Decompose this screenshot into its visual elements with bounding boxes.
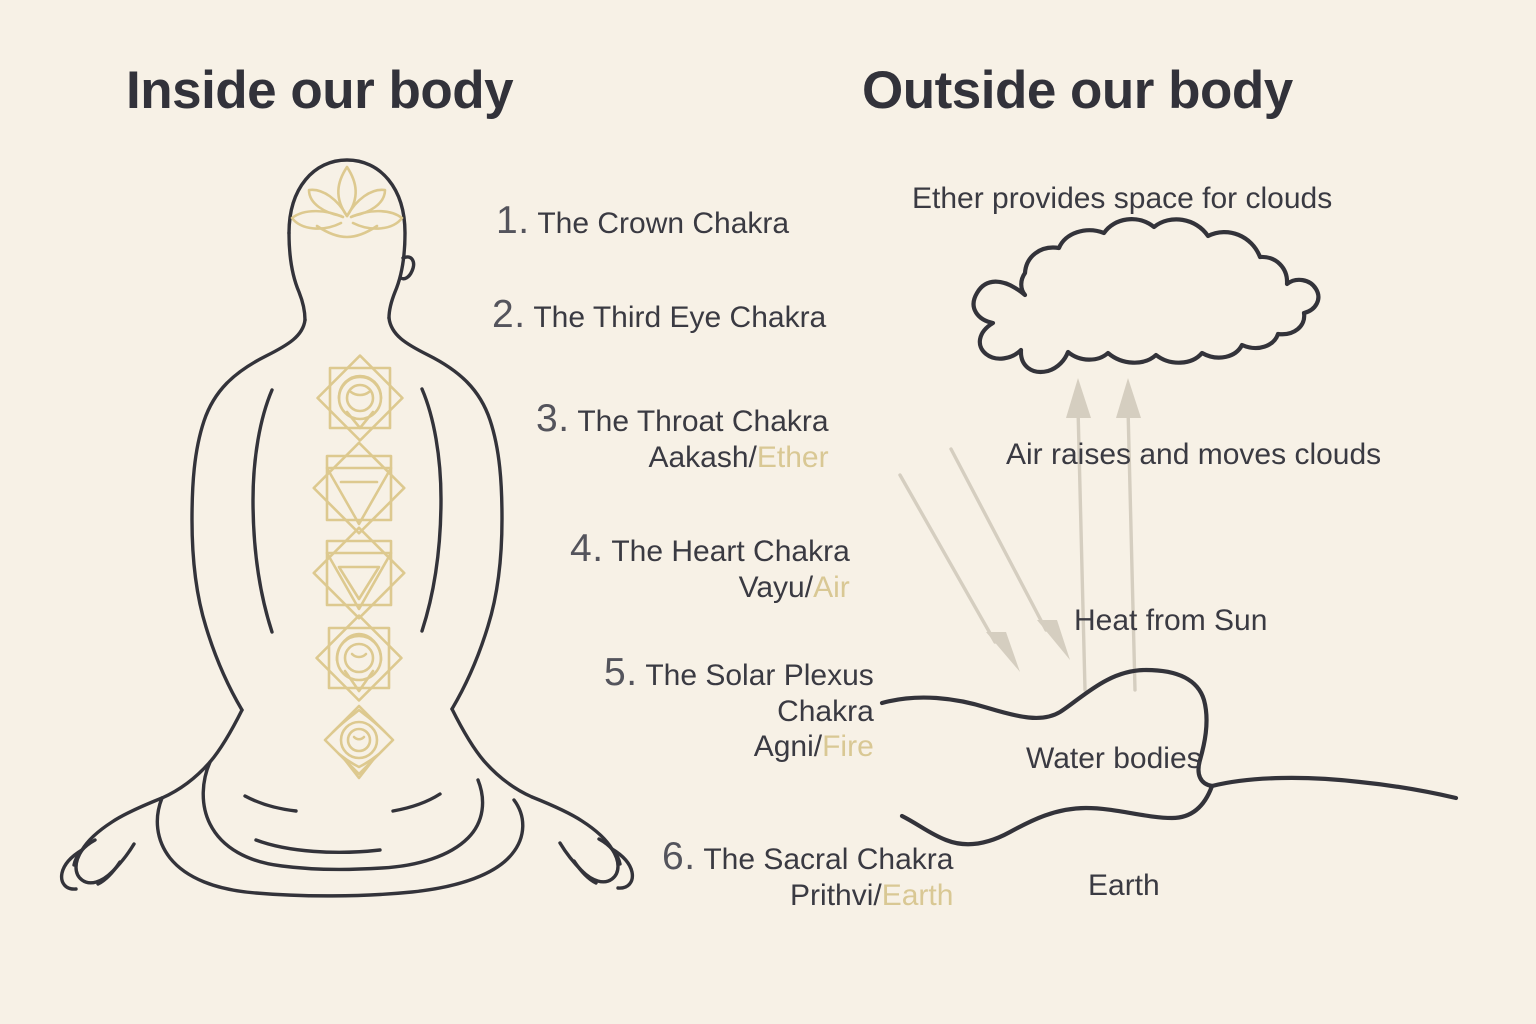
chakra-name-5-cont: Chakra: [604, 695, 874, 730]
chakra-element-3: Ether: [757, 441, 829, 474]
label-heat-from-sun: Heat from Sun: [1074, 604, 1267, 638]
label-ether-provides-space: Ether provides space for clouds: [912, 182, 1332, 216]
chakra-list-item-1: 1. The Crown Chakra: [496, 198, 789, 243]
cloud-icon: [974, 219, 1319, 372]
chakra-list-item-2: 2. The Third Eye Chakra: [492, 292, 826, 337]
chakra-name-4: The Heart Chakra: [611, 535, 849, 568]
down-arrow-icon: [900, 449, 1070, 672]
sacral-chakra-icon: [325, 706, 393, 778]
chakra-sanskrit-3: Aakash/: [648, 441, 756, 474]
chakra-sanskrit-4: Vayu/: [739, 571, 814, 604]
chakra-number-5: 5.: [604, 651, 638, 694]
chakra-number-1: 1.: [496, 199, 530, 242]
chakra-number-4: 4.: [570, 527, 604, 570]
chakra-name-5: The Solar Plexus: [645, 659, 873, 692]
page-title-inside-body: Inside our body: [126, 60, 513, 121]
chakra-name-3: The Throat Chakra: [577, 405, 828, 438]
body-outline: [62, 160, 633, 896]
heart-chakra-icon: [314, 528, 405, 619]
page-title-outside-body: Outside our body: [862, 60, 1293, 121]
label-water-bodies: Water bodies: [1026, 742, 1202, 776]
chakra-element-4: Air: [813, 571, 850, 604]
chakra-list-item-4: 4. The Heart Chakra Vayu/Air: [570, 526, 850, 606]
label-earth: Earth: [1088, 869, 1160, 903]
meditating-figure-illustration: [20, 140, 660, 900]
chakra-name-1: The Crown Chakra: [537, 207, 789, 240]
chakra-list-item-3: 3. The Throat Chakra Aakash/Ether: [536, 396, 829, 476]
third-eye-icon: [318, 356, 403, 441]
chakra-sanskrit-5: Agni/: [754, 730, 822, 763]
solar-plexus-chakra-icon: [317, 616, 402, 701]
water-cycle-illustration: [860, 160, 1536, 920]
label-air-raises-clouds: Air raises and moves clouds: [1006, 438, 1381, 472]
chakra-list-item-5: 5. The Solar Plexus Chakra Agni/Fire: [604, 650, 874, 765]
chakra-number-3: 3.: [536, 397, 570, 440]
infographic-page: Inside our body Outside our body: [0, 0, 1536, 1024]
up-arrow-icon: [1066, 378, 1141, 690]
throat-chakra-icon: [314, 443, 405, 534]
chakra-number-2: 2.: [492, 293, 526, 336]
chakra-number-6: 6.: [662, 835, 696, 878]
chakra-name-2: The Third Eye Chakra: [533, 301, 826, 334]
